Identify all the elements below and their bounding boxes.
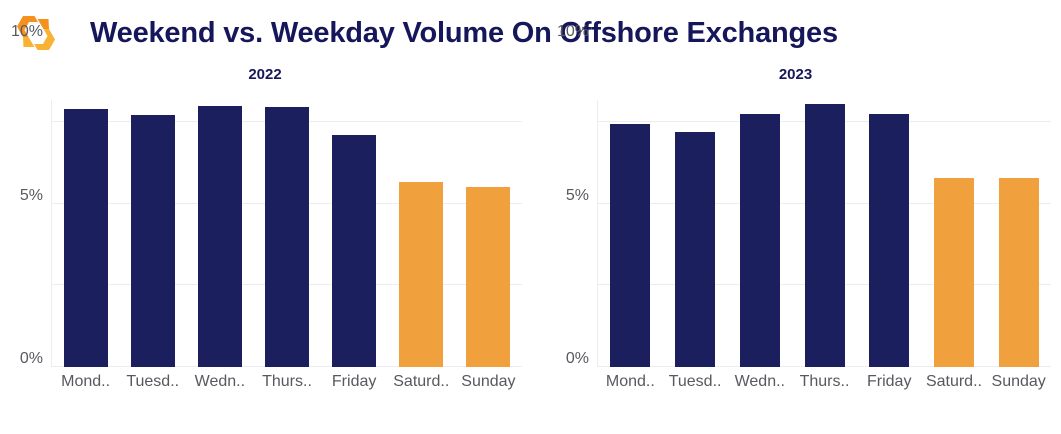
bar-slot[interactable] [186, 100, 253, 367]
bar-slot[interactable] [792, 100, 857, 367]
plot-area-2022: 0%5%10%15% Mond..Tuesd..Wedn..Thurs..Fri… [0, 98, 530, 428]
bar-series-2023 [598, 100, 1051, 367]
x-axis-tick-label: Wedn.. [727, 373, 792, 391]
y-axis-tick-label: 0% [566, 351, 589, 367]
chart-title-2022: 2022 [0, 60, 530, 90]
bar-slot[interactable] [857, 100, 922, 367]
x-axis-tick-label: Friday [857, 373, 922, 391]
bar-slot[interactable] [922, 100, 987, 367]
x-axis-tick-label: Thurs.. [253, 373, 320, 391]
x-axis-tick-label: Mond.. [52, 373, 119, 391]
bar-slot[interactable] [598, 100, 663, 367]
bar[interactable] [740, 114, 780, 367]
bar-slot[interactable] [986, 100, 1051, 367]
bar[interactable] [399, 182, 443, 367]
y-axis-tick-label: 5% [20, 188, 43, 204]
bar[interactable] [64, 109, 108, 367]
bar-slot[interactable] [321, 100, 388, 367]
chart-panel-2023: 2023 0%5%10%15% Mond..Tuesd..Wedn..Thurs… [530, 52, 1061, 428]
page-title: Weekend vs. Weekday Volume On Offshore E… [90, 11, 838, 55]
bar-slot[interactable] [663, 100, 728, 367]
x-axis-labels-2022: Mond..Tuesd..Wedn..Thurs..FridaySaturd..… [52, 373, 522, 391]
charts-container: 2022 0%5%10%15% Mond..Tuesd..Wedn..Thurs… [0, 52, 1061, 428]
bar-slot[interactable] [119, 100, 186, 367]
x-axis-tick-label: Friday [321, 373, 388, 391]
bar[interactable] [610, 124, 650, 367]
x-axis-tick-label: Mond.. [598, 373, 663, 391]
bar[interactable] [332, 135, 376, 367]
x-axis-tick-label: Saturd.. [388, 373, 455, 391]
bar[interactable] [999, 178, 1039, 367]
x-axis-tick-label: Tuesd.. [663, 373, 728, 391]
bar-slot[interactable] [52, 100, 119, 367]
bar[interactable] [934, 178, 974, 367]
bar[interactable] [869, 114, 909, 367]
x-axis-tick-label: Tuesd.. [119, 373, 186, 391]
x-axis-tick-label: Saturd.. [922, 373, 987, 391]
y-axis-tick-label: 10% [557, 24, 589, 40]
x-axis-tick-label: Wedn.. [186, 373, 253, 391]
y-axis-tick-label: 0% [20, 351, 43, 367]
axis-area-2023: 0%5%10%15% [598, 122, 1051, 367]
bar[interactable] [131, 115, 175, 367]
chart-panel-2022: 2022 0%5%10%15% Mond..Tuesd..Wedn..Thurs… [0, 52, 530, 428]
chart-title-2023: 2023 [530, 60, 1061, 90]
bar-slot[interactable] [253, 100, 320, 367]
x-axis-labels-2023: Mond..Tuesd..Wedn..Thurs..FridaySaturd..… [598, 373, 1051, 391]
bar-slot[interactable] [388, 100, 455, 367]
bar[interactable] [198, 106, 242, 367]
bar-slot[interactable] [455, 100, 522, 367]
axis-area-2022: 0%5%10%15% [52, 122, 522, 367]
bar[interactable] [675, 132, 715, 367]
chart-header: Weekend vs. Weekday Volume On Offshore E… [0, 0, 1061, 52]
y-axis-tick-label: 10% [11, 24, 43, 40]
x-axis-tick-label: Thurs.. [792, 373, 857, 391]
x-axis-tick-label: Sunday [455, 373, 522, 391]
bar[interactable] [265, 107, 309, 367]
y-axis-tick-label: 5% [566, 188, 589, 204]
plot-area-2023: 0%5%10%15% Mond..Tuesd..Wedn..Thurs..Fri… [530, 98, 1061, 428]
x-axis-tick-label: Sunday [986, 373, 1051, 391]
bar-series-2022 [52, 100, 522, 367]
bar-slot[interactable] [727, 100, 792, 367]
bar[interactable] [466, 187, 510, 367]
bar[interactable] [805, 104, 845, 367]
